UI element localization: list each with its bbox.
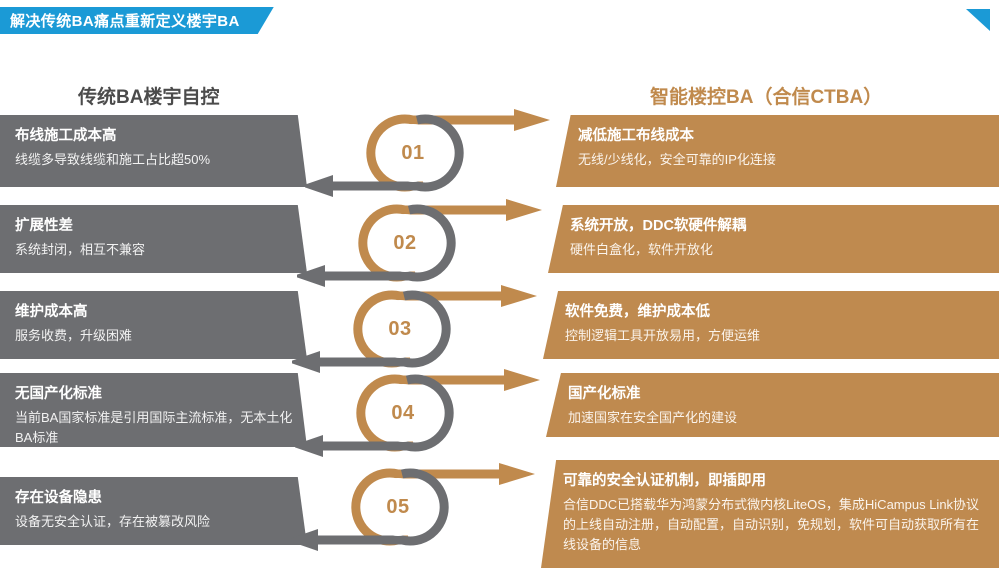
solution-card[interactable]: 软件免费，维护成本低 控制逻辑工具开放易用，方便运维 [543,291,999,359]
solution-card-desc: 硬件白盒化，软件开放化 [570,240,983,260]
pain-card[interactable]: 无国产化标准 当前BA国家标准是引用国际主流标准，无本土化BA标准 [0,373,307,447]
slide-canvas: 解决传统BA痛点重新定义楼宇BA 传统BA楼宇自控 智能楼控BA（合信CTBA）… [0,0,999,576]
step-number: 01 [383,142,443,165]
solution-card-title: 系统开放，DDC软硬件解耦 [570,216,983,237]
solution-card[interactable]: 可靠的安全认证机制，即插即用 合信DDC已搭载华为鸿蒙分布式微内核LiteOS，… [541,460,999,568]
solution-card[interactable]: 系统开放，DDC软硬件解耦 硬件白盒化，软件开放化 [548,205,999,273]
solution-card-title: 减低施工布线成本 [578,126,983,147]
pain-card-title: 扩展性差 [15,216,293,237]
pain-card[interactable]: 存在设备隐患 设备无安全认证，存在被篡改风险 [0,477,307,545]
pain-card-desc: 线缆多导致线缆和施工占比超50% [15,150,293,170]
solution-card-title: 软件免费，维护成本低 [565,302,983,323]
pain-card[interactable]: 布线施工成本高 线缆多导致线缆和施工占比超50% [0,115,307,187]
gold-arrow-head [514,109,550,131]
pain-card-desc: 设备无安全认证，存在被篡改风险 [15,512,293,532]
pain-card-title: 无国产化标准 [15,384,293,405]
banner-title: 解决传统BA痛点重新定义楼宇BA [0,7,274,34]
pain-card-desc: 系统封闭，相互不兼容 [15,240,293,260]
pain-card[interactable]: 维护成本高 服务收费，升级困难 [0,291,307,359]
gray-arrow-head [305,175,333,197]
column-heading-right: 智能楼控BA（合信CTBA） [650,82,882,109]
pain-card[interactable]: 扩展性差 系统封闭，相互不兼容 [0,205,307,273]
gold-arrow-head [504,369,540,391]
corner-triangle-icon [966,9,990,31]
step-number: 03 [370,318,430,341]
solution-card[interactable]: 国产化标准 加速国家在安全国产化的建设 [546,373,999,437]
pain-card-desc: 服务收费，升级困难 [15,326,293,346]
gold-arrow-head [501,285,537,307]
solution-card-title: 可靠的安全认证机制，即插即用 [563,471,983,492]
pain-card-title: 维护成本高 [15,302,293,323]
gold-arrow-head [499,463,535,485]
step-number: 02 [375,232,435,255]
step-number: 04 [373,402,433,425]
gold-arrow-head [506,199,542,221]
column-heading-left: 传统BA楼宇自控 [78,82,219,109]
solution-card[interactable]: 减低施工布线成本 无线/少线化，安全可靠的IP化连接 [556,115,999,187]
solution-card-title: 国产化标准 [568,384,983,405]
solution-card-desc: 合信DDC已搭载华为鸿蒙分布式微内核LiteOS，集成HiCampus Link… [563,495,983,555]
solution-card-desc: 加速国家在安全国产化的建设 [568,408,983,428]
solution-card-desc: 无线/少线化，安全可靠的IP化连接 [578,150,983,170]
pain-card-title: 存在设备隐患 [15,488,293,509]
pain-card-title: 布线施工成本高 [15,126,293,147]
step-number: 05 [368,496,428,519]
solution-card-desc: 控制逻辑工具开放易用，方便运维 [565,326,983,346]
pain-card-desc: 当前BA国家标准是引用国际主流标准，无本土化BA标准 [15,408,293,448]
